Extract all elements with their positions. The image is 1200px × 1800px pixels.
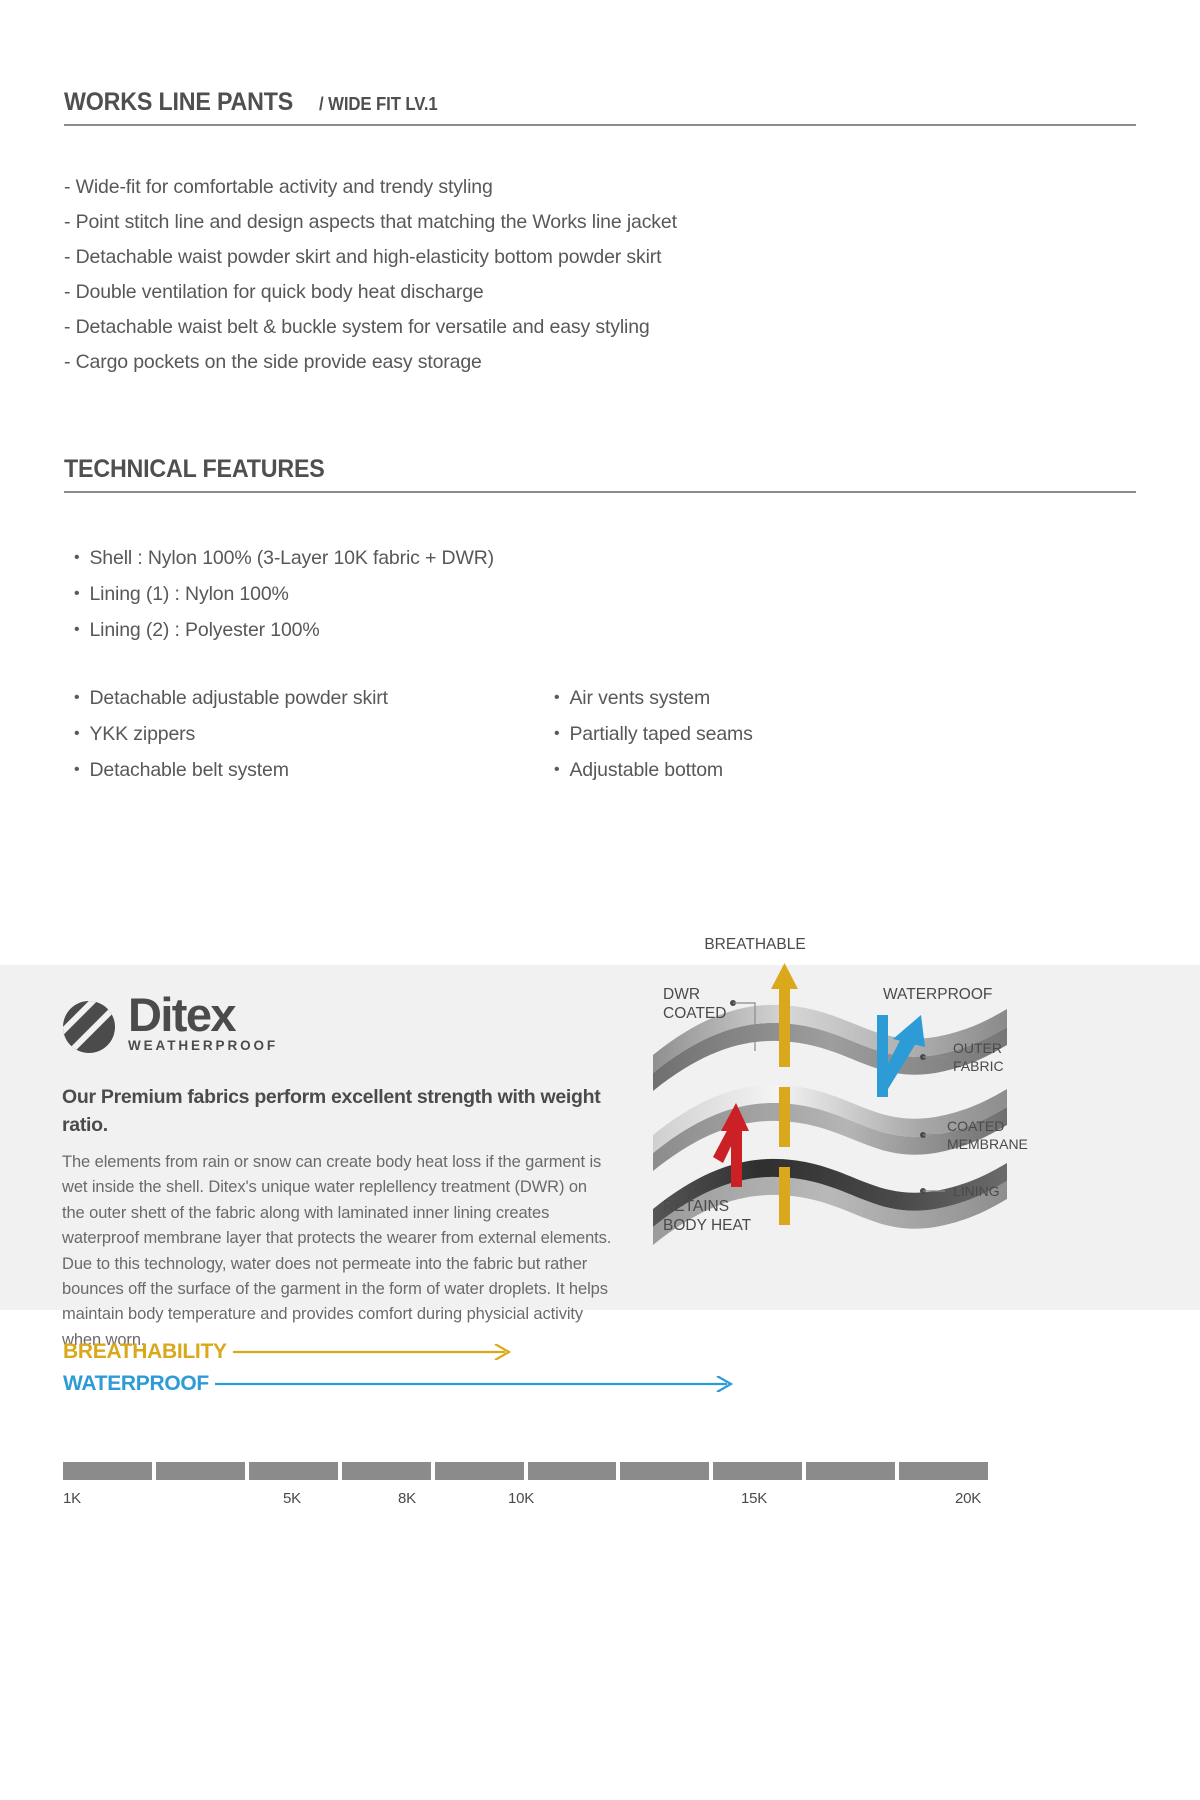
ditex-circle-slash-icon (62, 1000, 116, 1054)
list-item: - Detachable waist belt & buckle system … (64, 310, 677, 345)
waterproof-label: WATERPROOF (63, 1372, 209, 1396)
product-feature-list: - Wide-fit for comfortable activity and … (64, 170, 677, 380)
retains-body-heat-label-line1: RETAINS (663, 1198, 729, 1215)
list-item: - Cargo pockets on the side provide easy… (64, 345, 677, 380)
bar-segment (806, 1462, 895, 1480)
list-item: Lining (1) : Nylon 100% (74, 576, 494, 612)
retains-body-heat-label-line2: BODY HEAT (663, 1217, 752, 1234)
outer-fabric-label-line2: FABRIC (953, 1058, 1004, 1074)
page-title: WORKS LINE PANTS (64, 88, 293, 117)
product-title-header: WORKS LINE PANTS/ WIDE FIT LV.1 (64, 88, 1136, 126)
lining-label: LINING (953, 1183, 1000, 1199)
bar-segment (899, 1462, 988, 1480)
product-fit-subtitle: / WIDE FIT LV.1 (319, 94, 438, 115)
ditex-logo: Ditex WEATHERPROOF (62, 993, 278, 1054)
bar-segment (528, 1462, 617, 1480)
tick-label: 15K (741, 1490, 767, 1507)
rating-bar (63, 1462, 988, 1480)
ditex-lead-text: Our Premium fabrics perform excellent st… (62, 1083, 622, 1139)
technical-feature-grid: Detachable adjustable powder skirt Air v… (74, 680, 974, 788)
coated-membrane-label-line2: MEMBRANE (947, 1136, 1028, 1152)
breathability-arrow-icon (233, 1344, 523, 1360)
waterproof-arrow-icon (215, 1376, 745, 1392)
breathability-row: BREATHABILITY (63, 1340, 523, 1364)
ditex-body-text: The elements from rain or snow can creat… (62, 1150, 614, 1353)
breathability-label: BREATHABILITY (63, 1340, 227, 1364)
dwr-coated-label-line1: DWR (663, 986, 700, 1003)
list-item: YKK zippers (74, 716, 554, 752)
bar-segment (620, 1462, 709, 1480)
list-item: Detachable adjustable powder skirt (74, 680, 554, 716)
waterproof-row: WATERPROOF (63, 1372, 745, 1396)
list-item: - Point stitch line and design aspects t… (64, 205, 677, 240)
ditex-panel: Ditex WEATHERPROOF Our Premium fabrics p… (0, 965, 1200, 1310)
waterproof-label: WATERPROOF (883, 986, 992, 1003)
fabric-layer-diagram: BREATHABLE WATERPROOF RETAINS BODY HEAT (645, 927, 1045, 1312)
product-spec-page: WORKS LINE PANTS/ WIDE FIT LV.1 - Wide-f… (0, 0, 1200, 1800)
material-spec-list: Shell : Nylon 100% (3-Layer 10K fabric +… (74, 540, 494, 648)
list-item: - Double ventilation for quick body heat… (64, 275, 677, 310)
ditex-wordmark: Ditex WEATHERPROOF (128, 993, 278, 1054)
tick-label: 5K (283, 1490, 301, 1507)
scale-ticks: 1K 5K 8K 10K 15K 20K (0, 1490, 1200, 1510)
ditex-tagline: WEATHERPROOF (128, 1038, 278, 1054)
bar-segment (156, 1462, 245, 1480)
list-item: - Detachable waist powder skirt and high… (64, 240, 677, 275)
section-title: TECHNICAL FEATURES (64, 455, 325, 484)
list-item: Detachable belt system (74, 752, 554, 788)
outer-fabric-label-line1: OUTER (953, 1040, 1002, 1056)
tick-label: 8K (398, 1490, 416, 1507)
tick-label: 10K (508, 1490, 534, 1507)
list-item: - Wide-fit for comfortable activity and … (64, 170, 677, 205)
breathable-label: BREATHABLE (704, 936, 805, 953)
technical-features-header: TECHNICAL FEATURES (64, 455, 1136, 493)
tick-label: 20K (955, 1490, 981, 1507)
list-item: Partially taped seams (554, 716, 974, 752)
list-item: Lining (2) : Polyester 100% (74, 612, 494, 648)
bar-segment (713, 1462, 802, 1480)
coated-membrane-label-line1: COATED (947, 1118, 1004, 1134)
list-item: Air vents system (554, 680, 974, 716)
dwr-coated-label-line2: COATED (663, 1005, 726, 1022)
bar-segment (63, 1462, 152, 1480)
list-item: Adjustable bottom (554, 752, 974, 788)
bar-segment (249, 1462, 338, 1480)
bar-segment (435, 1462, 524, 1480)
tick-label: 1K (63, 1490, 81, 1507)
ditex-brand-name: Ditex (128, 993, 278, 1037)
bar-segment (342, 1462, 431, 1480)
list-item: Shell : Nylon 100% (3-Layer 10K fabric +… (74, 540, 494, 576)
